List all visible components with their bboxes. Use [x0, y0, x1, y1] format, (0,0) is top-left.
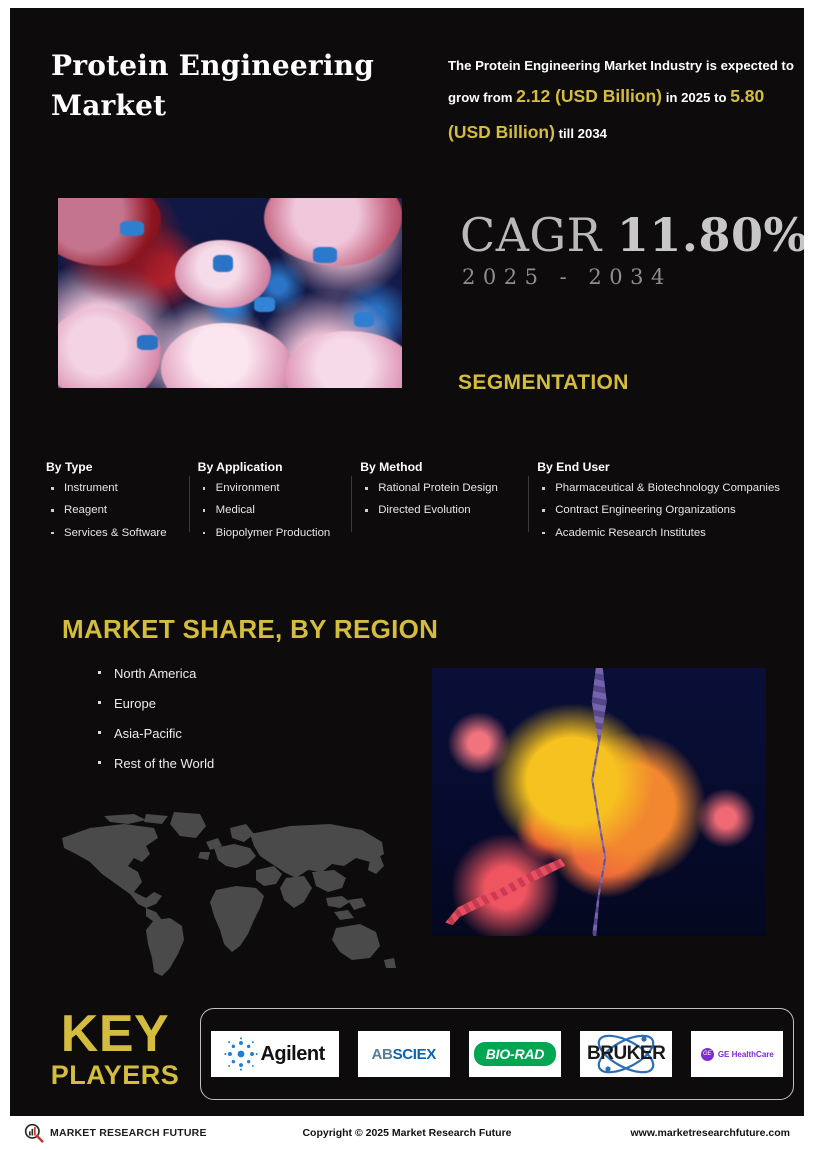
bruker-label: BRUKER	[587, 1043, 665, 1065]
agilent-starburst-icon	[224, 1037, 258, 1071]
cell-microscopy-image	[58, 198, 402, 388]
list-item: Reagent	[46, 505, 184, 516]
agilent-label: Agilent	[260, 1043, 324, 1066]
segmentation-column-by-end-user: By End User Pharmaceutical & Biotechnolo…	[537, 460, 794, 550]
particle	[137, 335, 158, 350]
infographic-canvas: Protein Engineering Market The Protein E…	[10, 8, 804, 1116]
segmentation-title: SEGMENTATION	[458, 371, 629, 395]
cagr-label: CAGR	[460, 208, 602, 262]
players-word: PLAYERS	[40, 1059, 190, 1093]
list-item: North America	[96, 666, 214, 681]
list-item: Environment	[198, 483, 347, 494]
segmentation-column-by-application: By Application Environment Medical Biopo…	[198, 460, 361, 550]
list-item: Rational Protein Design	[360, 483, 523, 494]
list-item: Directed Evolution	[360, 505, 523, 516]
logo-bio-rad[interactable]: BIO-RAD	[469, 1031, 561, 1077]
list-item: Services & Software	[46, 528, 184, 539]
cell-blob	[161, 323, 292, 388]
list-item: Instrument	[46, 483, 184, 494]
page-title: Protein Engineering Market	[51, 46, 411, 126]
logo-agilent[interactable]: Agilent	[211, 1031, 339, 1077]
region-list: North America Europe Asia-Pacific Rest o…	[96, 666, 214, 786]
list-item: Rest of the World	[96, 756, 214, 771]
list-item: Europe	[96, 696, 214, 711]
world-map	[50, 808, 410, 978]
footer-url[interactable]: www.marketresearchfuture.com	[630, 1127, 790, 1139]
list-item: Pharmaceutical & Biotechnology Companies	[537, 483, 780, 494]
list-item: Academic Research Institutes	[537, 528, 780, 539]
market-summary-text: The Protein Engineering Market Industry …	[448, 52, 796, 151]
particle	[120, 221, 144, 236]
value-2025: 2.12 (USD Billion)	[516, 86, 662, 106]
cagr-value: 11.80%	[617, 208, 804, 262]
logo-ab-sciex[interactable]: ABSCIEX	[358, 1031, 450, 1077]
logo-bruker[interactable]: BRUKER	[580, 1031, 672, 1077]
absciex-ab: AB	[371, 1046, 392, 1063]
column-heading: By Application	[198, 460, 347, 474]
segmentation-grid: By Type Instrument Reagent Services & So…	[46, 460, 794, 550]
list-item: Asia-Pacific	[96, 726, 214, 741]
rna-strand	[445, 857, 565, 925]
segmentation-column-by-method: By Method Rational Protein Design Direct…	[360, 460, 537, 550]
key-players-logos: Agilent ABSCIEX BIO-RAD BRUKER	[200, 1008, 794, 1100]
particle	[354, 312, 375, 327]
particle	[313, 247, 337, 262]
ge-label: GE HealthCare	[718, 1050, 774, 1059]
cell-blob	[285, 331, 402, 388]
column-heading: By Method	[360, 460, 523, 474]
biorad-label: BIO-RAD	[474, 1042, 556, 1066]
key-word: KEY	[40, 1010, 190, 1059]
infographic-page: Protein Engineering Market The Protein E…	[0, 0, 814, 1150]
logo-ge-healthcare[interactable]: GE GE HealthCare	[691, 1031, 783, 1077]
dna-helix	[586, 668, 612, 936]
list-item: Biopolymer Production	[198, 528, 347, 539]
absciex-sciex: SCIEX	[393, 1046, 437, 1063]
cell-blob	[58, 198, 161, 266]
column-heading: By Type	[46, 460, 184, 474]
particle	[213, 255, 234, 272]
summary-mid: in 2025 to	[666, 90, 727, 105]
absciex-label: ABSCIEX	[371, 1046, 436, 1063]
summary-tail: till 2034	[559, 126, 607, 141]
key-players-heading: KEY PLAYERS	[40, 1010, 190, 1093]
segmentation-column-by-type: By Type Instrument Reagent Services & So…	[46, 460, 198, 550]
market-share-title: MARKET SHARE, BY REGION	[62, 614, 438, 645]
footer: MARKET RESEARCH FUTURE Copyright © 2025 …	[0, 1116, 814, 1150]
column-heading: By End User	[537, 460, 780, 474]
ge-monogram-icon: GE	[701, 1048, 714, 1061]
cagr-period: 2025 - 2034	[462, 265, 672, 289]
particle	[254, 297, 275, 312]
list-item: Contract Engineering Organizations	[537, 505, 780, 516]
list-item: Medical	[198, 505, 347, 516]
protein-molecule-image	[432, 668, 766, 936]
cagr-display: CAGR 11.80%	[460, 208, 804, 262]
